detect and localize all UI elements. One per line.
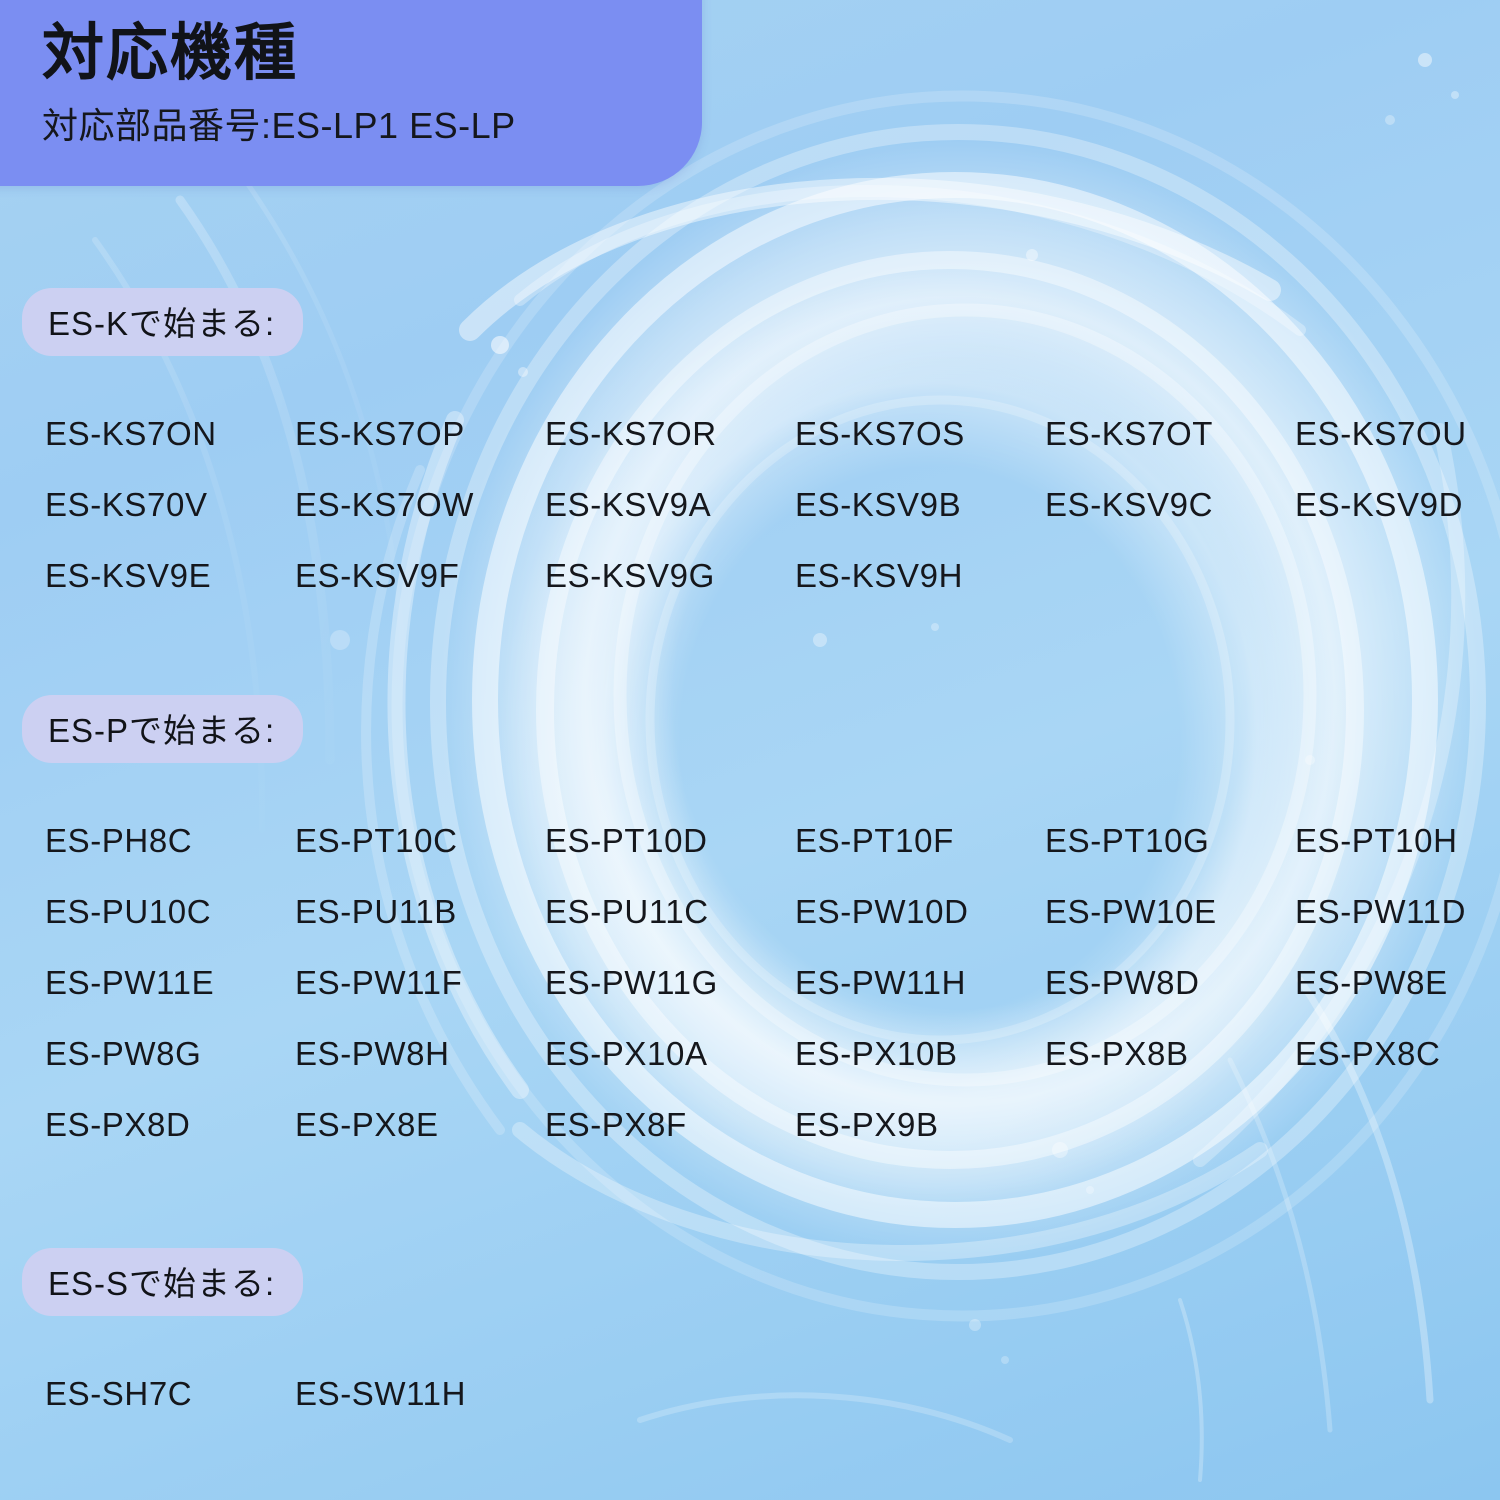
model-item: ES-PT10F xyxy=(795,805,1045,876)
model-item: ES-KSV9H xyxy=(795,540,1045,611)
model-item: ES-PW11H xyxy=(795,947,1045,1018)
section-es-k: ES-Kで始まる: ES-KS7ON ES-KS7OP ES-KS7OR ES-… xyxy=(0,288,1500,611)
model-item: ES-PX10B xyxy=(795,1018,1045,1089)
model-item: ES-KSV9C xyxy=(1045,469,1295,540)
model-item: ES-KS7OU xyxy=(1295,398,1500,469)
model-item: ES-PW11F xyxy=(295,947,545,1018)
model-item: ES-KSV9G xyxy=(545,540,795,611)
model-item: ES-PT10C xyxy=(295,805,545,876)
model-item: ES-PW11E xyxy=(45,947,295,1018)
model-item: ES-KS70V xyxy=(45,469,295,540)
model-item: ES-KS7OW xyxy=(295,469,545,540)
model-item: ES-PW11D xyxy=(1295,876,1500,947)
compatible-models-page: 対応機種 対応部品番号:ES-LP1 ES-LP ES-Kで始まる: ES-KS… xyxy=(0,0,1500,1500)
model-item: ES-PX8B xyxy=(1045,1018,1295,1089)
model-item: ES-PU11B xyxy=(295,876,545,947)
model-item: ES-KS7OR xyxy=(545,398,795,469)
section-label-es-p: ES-Pで始まる: xyxy=(22,695,303,763)
model-item: ES-PT10D xyxy=(545,805,795,876)
model-item: ES-KSV9E xyxy=(45,540,295,611)
header-badge: 対応機種 対応部品番号:ES-LP1 ES-LP xyxy=(0,0,702,186)
model-item: ES-PW8H xyxy=(295,1018,545,1089)
section-label-wrap-es-p: ES-Pで始まる: xyxy=(0,695,1500,763)
model-item: ES-PX8D xyxy=(45,1089,295,1160)
model-item: ES-SW11H xyxy=(295,1358,545,1429)
model-item: ES-PX8E xyxy=(295,1089,545,1160)
part-number-line: 対応部品番号:ES-LP1 ES-LP xyxy=(42,97,702,149)
model-item: ES-PH8C xyxy=(45,805,295,876)
section-label-wrap-es-s: ES-Sで始まる: xyxy=(0,1248,1500,1316)
section-label-es-s: ES-Sで始まる: xyxy=(22,1248,303,1316)
page-title: 対応機種 xyxy=(42,22,702,85)
model-item: ES-KS7ON xyxy=(45,398,295,469)
model-item: ES-PW10D xyxy=(795,876,1045,947)
model-item: ES-PW8E xyxy=(1295,947,1500,1018)
model-item: ES-PW8G xyxy=(45,1018,295,1089)
model-item: ES-PT10H xyxy=(1295,805,1500,876)
model-item: ES-PX10A xyxy=(545,1018,795,1089)
model-item: ES-PX8C xyxy=(1295,1018,1500,1089)
model-item: ES-KS7OT xyxy=(1045,398,1295,469)
model-item: ES-KSV9A xyxy=(545,469,795,540)
model-item: ES-KS7OS xyxy=(795,398,1045,469)
model-grid-es-s: ES-SH7C ES-SW11H xyxy=(0,1358,1500,1429)
model-grid-es-k: ES-KS7ON ES-KS7OP ES-KS7OR ES-KS7OS ES-K… xyxy=(0,398,1500,611)
model-item: ES-PU10C xyxy=(45,876,295,947)
model-item: ES-PW10E xyxy=(1045,876,1295,947)
model-item: ES-PW11G xyxy=(545,947,795,1018)
section-es-p: ES-Pで始まる: ES-PH8C ES-PT10C ES-PT10D ES-P… xyxy=(0,695,1500,1160)
model-item: ES-KSV9F xyxy=(295,540,545,611)
model-item: ES-SH7C xyxy=(45,1358,295,1429)
model-item: ES-KSV9B xyxy=(795,469,1045,540)
model-item: ES-PX8F xyxy=(545,1089,795,1160)
model-item: ES-PX9B xyxy=(795,1089,1045,1160)
section-es-s: ES-Sで始まる: ES-SH7C ES-SW11H xyxy=(0,1248,1500,1429)
model-item: ES-KSV9D xyxy=(1295,469,1500,540)
section-label-wrap-es-k: ES-Kで始まる: xyxy=(0,288,1500,356)
model-item: ES-PW8D xyxy=(1045,947,1295,1018)
section-label-es-k: ES-Kで始まる: xyxy=(22,288,303,356)
model-item: ES-KS7OP xyxy=(295,398,545,469)
model-grid-es-p: ES-PH8C ES-PT10C ES-PT10D ES-PT10F ES-PT… xyxy=(0,805,1500,1160)
model-item: ES-PU11C xyxy=(545,876,795,947)
model-item: ES-PT10G xyxy=(1045,805,1295,876)
